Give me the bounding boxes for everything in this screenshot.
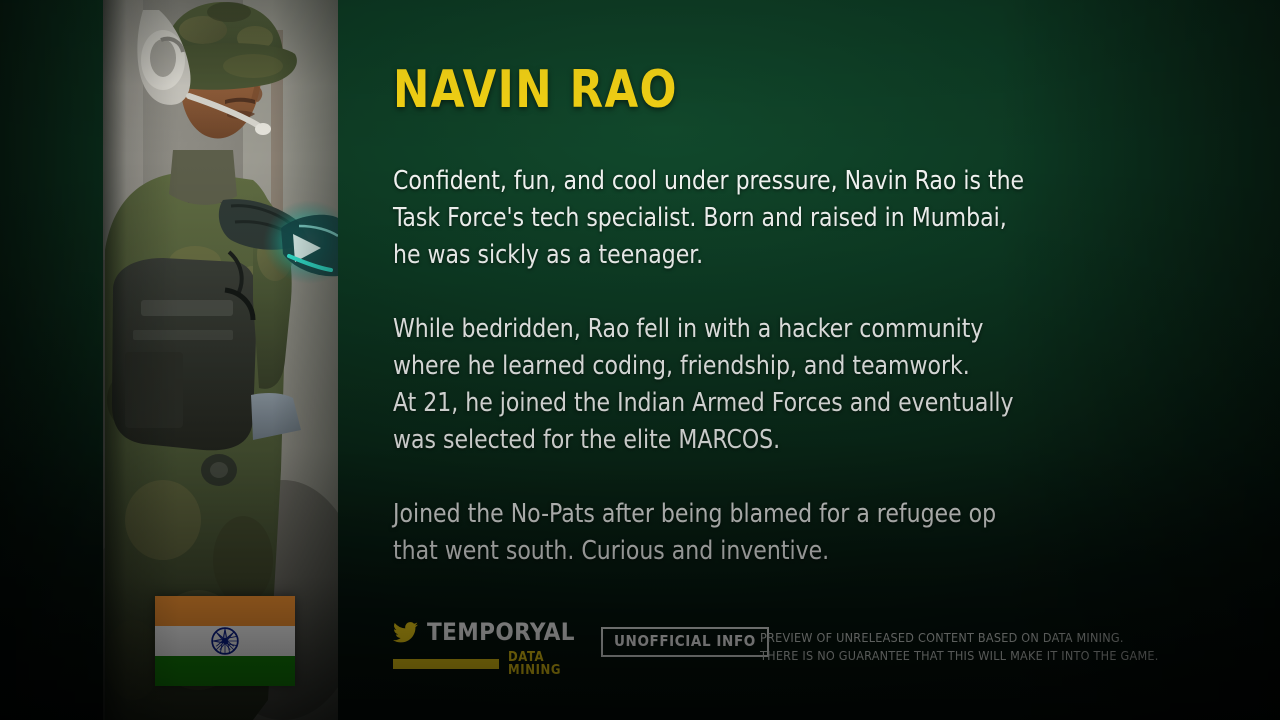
status-badge-label: UNOFFICIAL INFO bbox=[614, 634, 756, 649]
character-bio: Confident, fun, and cool under pressure,… bbox=[393, 163, 1183, 570]
character-info-card: NAVIN RAO Confident, fun, and cool under… bbox=[0, 0, 1280, 720]
bio-paragraph: While bedridden, Rao fell in with a hack… bbox=[393, 311, 1151, 459]
disclaimer: PREVIEW OF UNRELEASED CONTENT BASED ON D… bbox=[760, 629, 1160, 665]
bio-paragraph: Joined the No-Pats after being blamed fo… bbox=[393, 496, 1151, 570]
brand-name: TEMPORYAL bbox=[427, 620, 575, 644]
status-badge: UNOFFICIAL INFO bbox=[601, 627, 769, 657]
footer: TEMPORYAL DATA MINING UNOFFICIAL INFO PR… bbox=[393, 612, 1193, 676]
disclaimer-line: PREVIEW OF UNRELEASED CONTENT BASED ON D… bbox=[760, 629, 1160, 647]
brand-logo[interactable]: TEMPORYAL DATA MINING bbox=[393, 620, 568, 677]
ashoka-chakra-icon bbox=[211, 627, 239, 655]
brand-tagline: DATA MINING bbox=[508, 651, 568, 677]
flag-band-green bbox=[155, 656, 295, 686]
bio-paragraph: Confident, fun, and cool under pressure,… bbox=[393, 163, 1151, 274]
flag-band-saffron bbox=[155, 596, 295, 626]
character-name: NAVIN RAO bbox=[393, 64, 678, 116]
disclaimer-line: THERE IS NO GUARANTEE THAT THIS WILL MAK… bbox=[760, 647, 1160, 665]
info-panel: NAVIN RAO Confident, fun, and cool under… bbox=[393, 0, 1193, 720]
brand-accent-bar bbox=[393, 659, 499, 669]
twitter-bird-icon bbox=[393, 622, 418, 643]
india-flag-icon bbox=[155, 596, 295, 686]
